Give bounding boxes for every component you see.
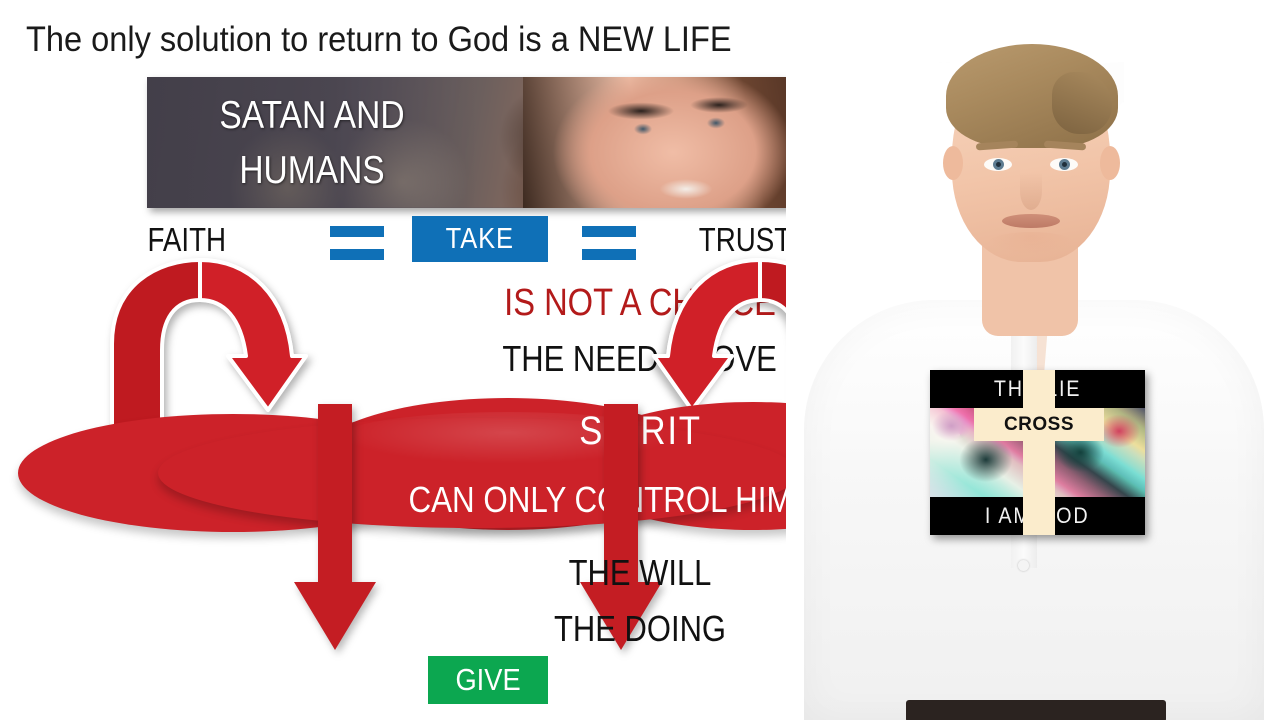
satan-and-humans-banner: SATAN AND HUMANS (147, 77, 823, 208)
banner-photo-face (523, 77, 823, 208)
presenter-belt (906, 700, 1166, 720)
cross-image: THE LIE I AM GOD CROSS (930, 370, 1145, 535)
banner-caption: SATAN AND HUMANS (170, 77, 454, 208)
cross-vertical-beam (1023, 370, 1055, 535)
slide-canvas: The only solution to return to God is a … (0, 0, 1280, 720)
cross-horizontal-beam: CROSS (974, 408, 1104, 441)
give-box[interactable]: GIVE (428, 656, 548, 704)
presenter-eye-right (1050, 158, 1078, 171)
equals-sign-icon-right (582, 226, 636, 260)
equals-sign-icon-left (330, 226, 384, 260)
presenter-hair (946, 44, 1118, 148)
take-label: TAKE (446, 223, 514, 256)
presenter-photo (786, 0, 1280, 720)
page-title: The only solution to return to God is a … (26, 18, 770, 62)
banner-caption-line2: HUMANS (239, 151, 384, 190)
cross-label: CROSS (1004, 414, 1074, 436)
take-box[interactable]: TAKE (412, 216, 548, 262)
presenter-mouth (1002, 214, 1060, 228)
give-label: GIVE (455, 662, 520, 698)
presenter-eye-left (984, 158, 1012, 171)
banner-caption-line1: SATAN AND (219, 96, 404, 135)
